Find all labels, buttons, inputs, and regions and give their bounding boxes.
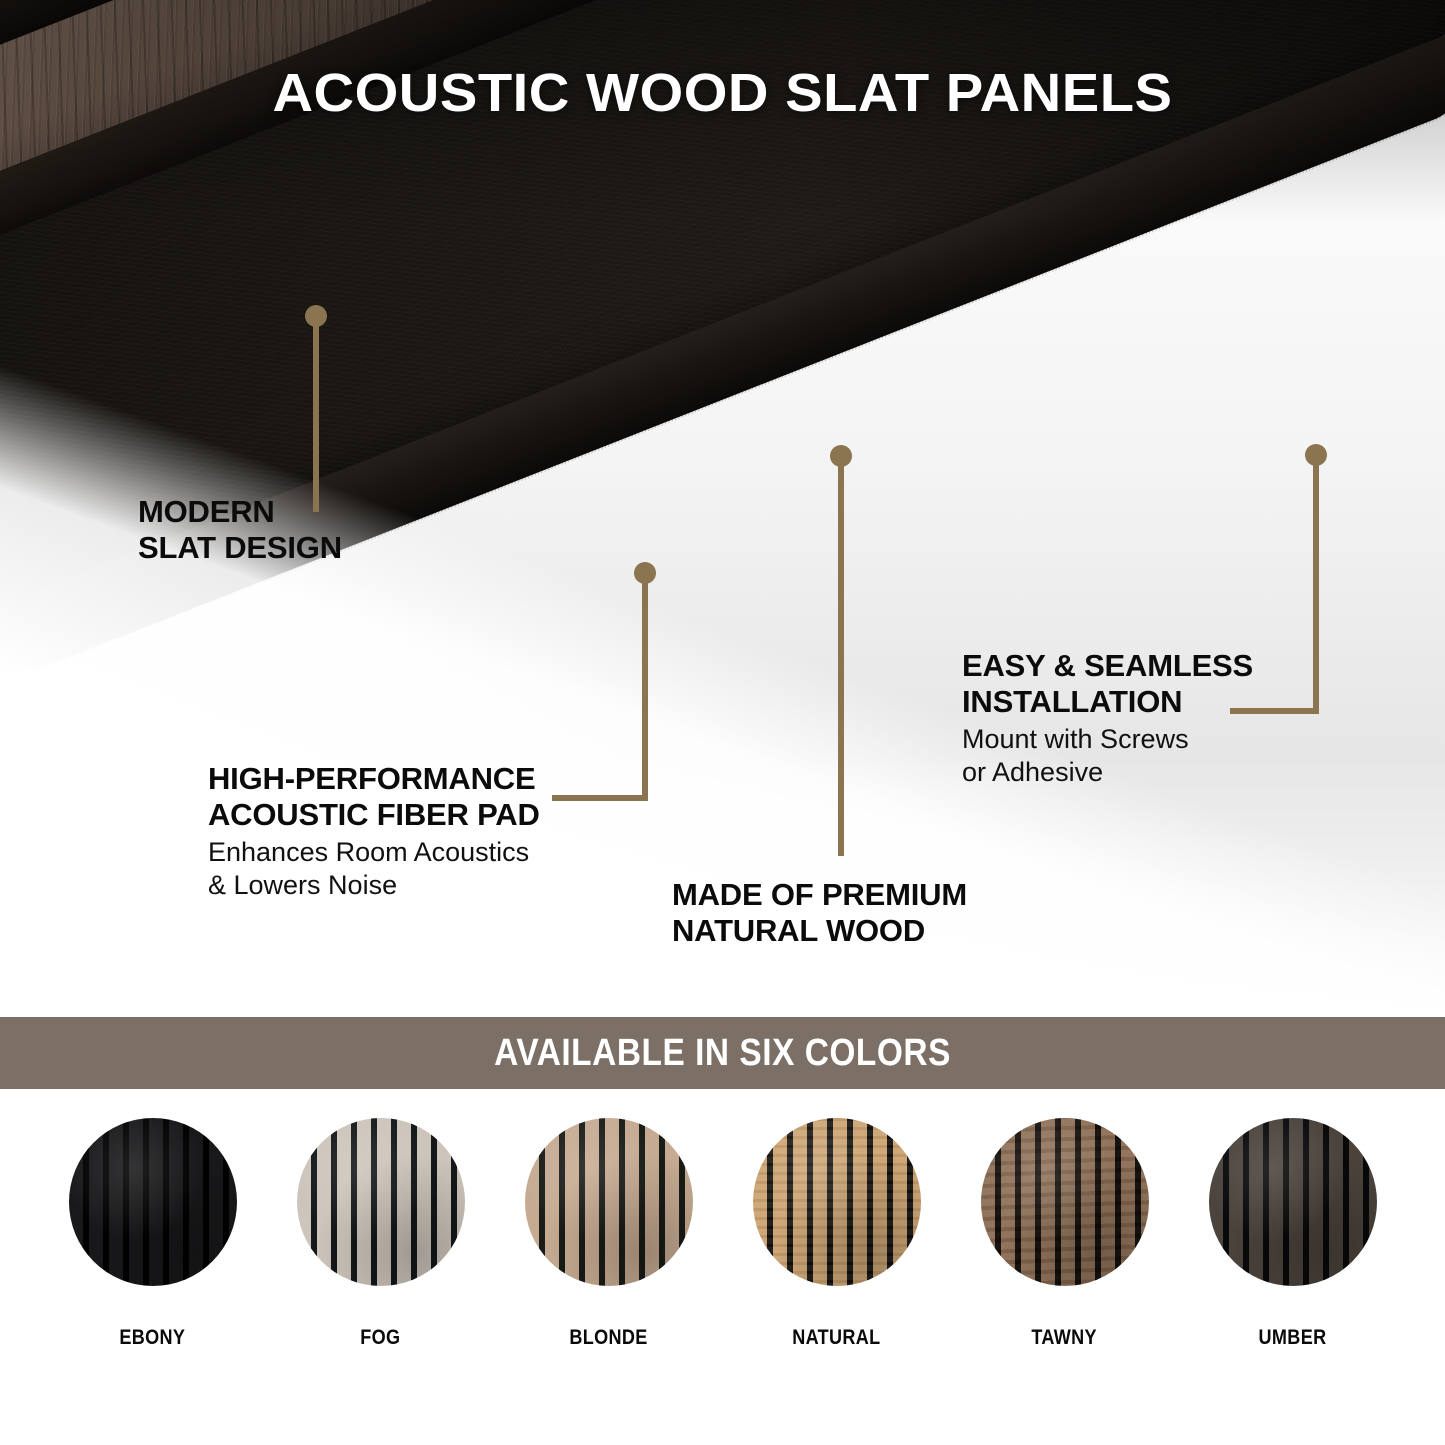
swatch-circle[interactable] xyxy=(1209,1118,1377,1286)
swatch-circle[interactable] xyxy=(69,1118,237,1286)
swatch-circle[interactable] xyxy=(525,1118,693,1286)
swatch-shading xyxy=(525,1118,693,1286)
callout-line-acoustic-fiber-pad-vertical xyxy=(642,573,648,800)
callout-headline: MODERN SLAT DESIGN xyxy=(138,494,342,565)
color-swatch-row: EBONYFOGBLONDENATURALTAWNYUMBER xyxy=(0,1118,1445,1418)
callout-line-easy-installation-vertical xyxy=(1313,455,1319,713)
swatch-label: EBONY xyxy=(120,1326,186,1350)
swatch-shading xyxy=(69,1118,237,1286)
swatch-circle[interactable] xyxy=(753,1118,921,1286)
color-swatch-ebony[interactable]: EBONY xyxy=(63,1118,243,1350)
hero-product-photo: ACOUSTIC WOOD SLAT PANELS MODERN SLAT DE… xyxy=(0,0,1445,1010)
swatch-shading xyxy=(981,1118,1149,1286)
callout-line-modern-slat-design xyxy=(313,316,319,512)
callout-headline: MADE OF PREMIUM NATURAL WOOD xyxy=(672,877,967,948)
page-title: ACOUSTIC WOOD SLAT PANELS xyxy=(0,62,1445,124)
swatch-circle[interactable] xyxy=(297,1118,465,1286)
callout-acoustic-fiber-pad: HIGH-PERFORMANCE ACOUSTIC FIBER PAD Enha… xyxy=(208,761,540,902)
callout-premium-natural-wood: MADE OF PREMIUM NATURAL WOOD xyxy=(672,877,967,952)
callout-line-premium-natural-wood xyxy=(838,456,844,856)
color-swatch-fog[interactable]: FOG xyxy=(291,1118,471,1350)
swatch-label: UMBER xyxy=(1259,1326,1327,1350)
callout-modern-slat-design: MODERN SLAT DESIGN xyxy=(138,494,342,569)
swatch-label: BLONDE xyxy=(569,1326,647,1350)
swatch-label: FOG xyxy=(360,1326,400,1350)
callout-headline: EASY & SEAMLESS INSTALLATION xyxy=(962,648,1253,719)
banner-title: AVAILABLE IN SIX COLORS xyxy=(494,1032,951,1075)
swatch-shading xyxy=(753,1118,921,1286)
callout-line-acoustic-fiber-pad-horizontal xyxy=(552,795,648,801)
swatch-circle[interactable] xyxy=(981,1118,1149,1286)
callout-headline: HIGH-PERFORMANCE ACOUSTIC FIBER PAD xyxy=(208,761,540,832)
swatch-shading xyxy=(297,1118,465,1286)
callout-easy-installation: EASY & SEAMLESS INSTALLATION Mount with … xyxy=(962,648,1253,789)
swatch-shading xyxy=(1209,1118,1377,1286)
swatch-label: TAWNY xyxy=(1032,1326,1098,1350)
color-swatch-umber[interactable]: UMBER xyxy=(1203,1118,1383,1350)
callout-subtext: Enhances Room Acoustics & Lowers Noise xyxy=(208,836,540,902)
color-swatch-blonde[interactable]: BLONDE xyxy=(519,1118,699,1350)
swatch-label: NATURAL xyxy=(792,1326,880,1350)
color-swatch-tawny[interactable]: TAWNY xyxy=(975,1118,1155,1350)
color-swatch-natural[interactable]: NATURAL xyxy=(747,1118,927,1350)
available-colors-banner: AVAILABLE IN SIX COLORS xyxy=(0,1017,1445,1089)
callout-subtext: Mount with Screws or Adhesive xyxy=(962,723,1253,789)
infographic-root: ACOUSTIC WOOD SLAT PANELS MODERN SLAT DE… xyxy=(0,0,1445,1445)
